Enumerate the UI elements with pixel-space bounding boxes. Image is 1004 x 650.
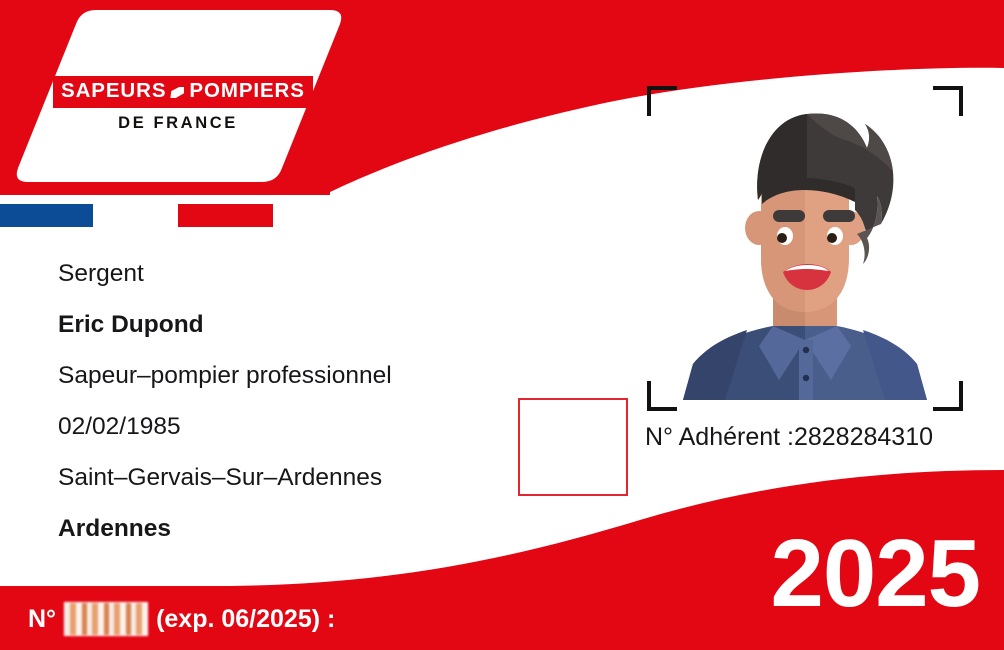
logo-pompiers: POMPIERS	[189, 79, 304, 102]
holder-rank: Sergent	[58, 248, 392, 299]
stamp-box	[518, 398, 628, 496]
holder-info: Sergent Eric Dupond Sapeur–pompier profe…	[58, 248, 392, 554]
flag-bar-red	[178, 204, 273, 227]
logo-wordmark: SAPEURSPOMPIERS DE FRANCE	[53, 76, 303, 131]
holder-status: Sapeur–pompier professionnel	[58, 350, 392, 401]
flag-bar-blue	[0, 204, 93, 227]
id-card: SAPEURSPOMPIERS DE FRANCE Sergent Eric D…	[0, 0, 1004, 650]
frame-corner-top-right-icon	[933, 86, 963, 116]
holder-city: Saint–Gervais–Sur–Ardennes	[58, 452, 392, 503]
logo-subtitle: DE FRANCE	[53, 115, 303, 132]
logo-band: SAPEURSPOMPIERS	[53, 76, 313, 108]
logo-sapeurs: SAPEURS	[61, 79, 166, 102]
photo-frame-brackets	[647, 86, 963, 411]
holder-birthdate: 02/02/1985	[58, 401, 392, 452]
validity-year: 2025	[770, 526, 980, 622]
card-number-row: N° (exp. 06/2025) :	[28, 602, 335, 636]
card-number-prefix: N°	[28, 605, 56, 634]
redacted-number	[64, 602, 148, 636]
frame-corner-top-left-icon	[647, 86, 677, 116]
frame-corner-bottom-right-icon	[933, 381, 963, 411]
member-number: N° Adhérent :2828284310	[645, 423, 933, 452]
frame-corner-bottom-left-icon	[647, 381, 677, 411]
holder-name: Eric Dupond	[58, 299, 392, 350]
card-expiry: (exp. 06/2025) :	[156, 605, 335, 634]
holder-department: Ardennes	[58, 503, 392, 554]
flame-icon	[170, 87, 184, 98]
